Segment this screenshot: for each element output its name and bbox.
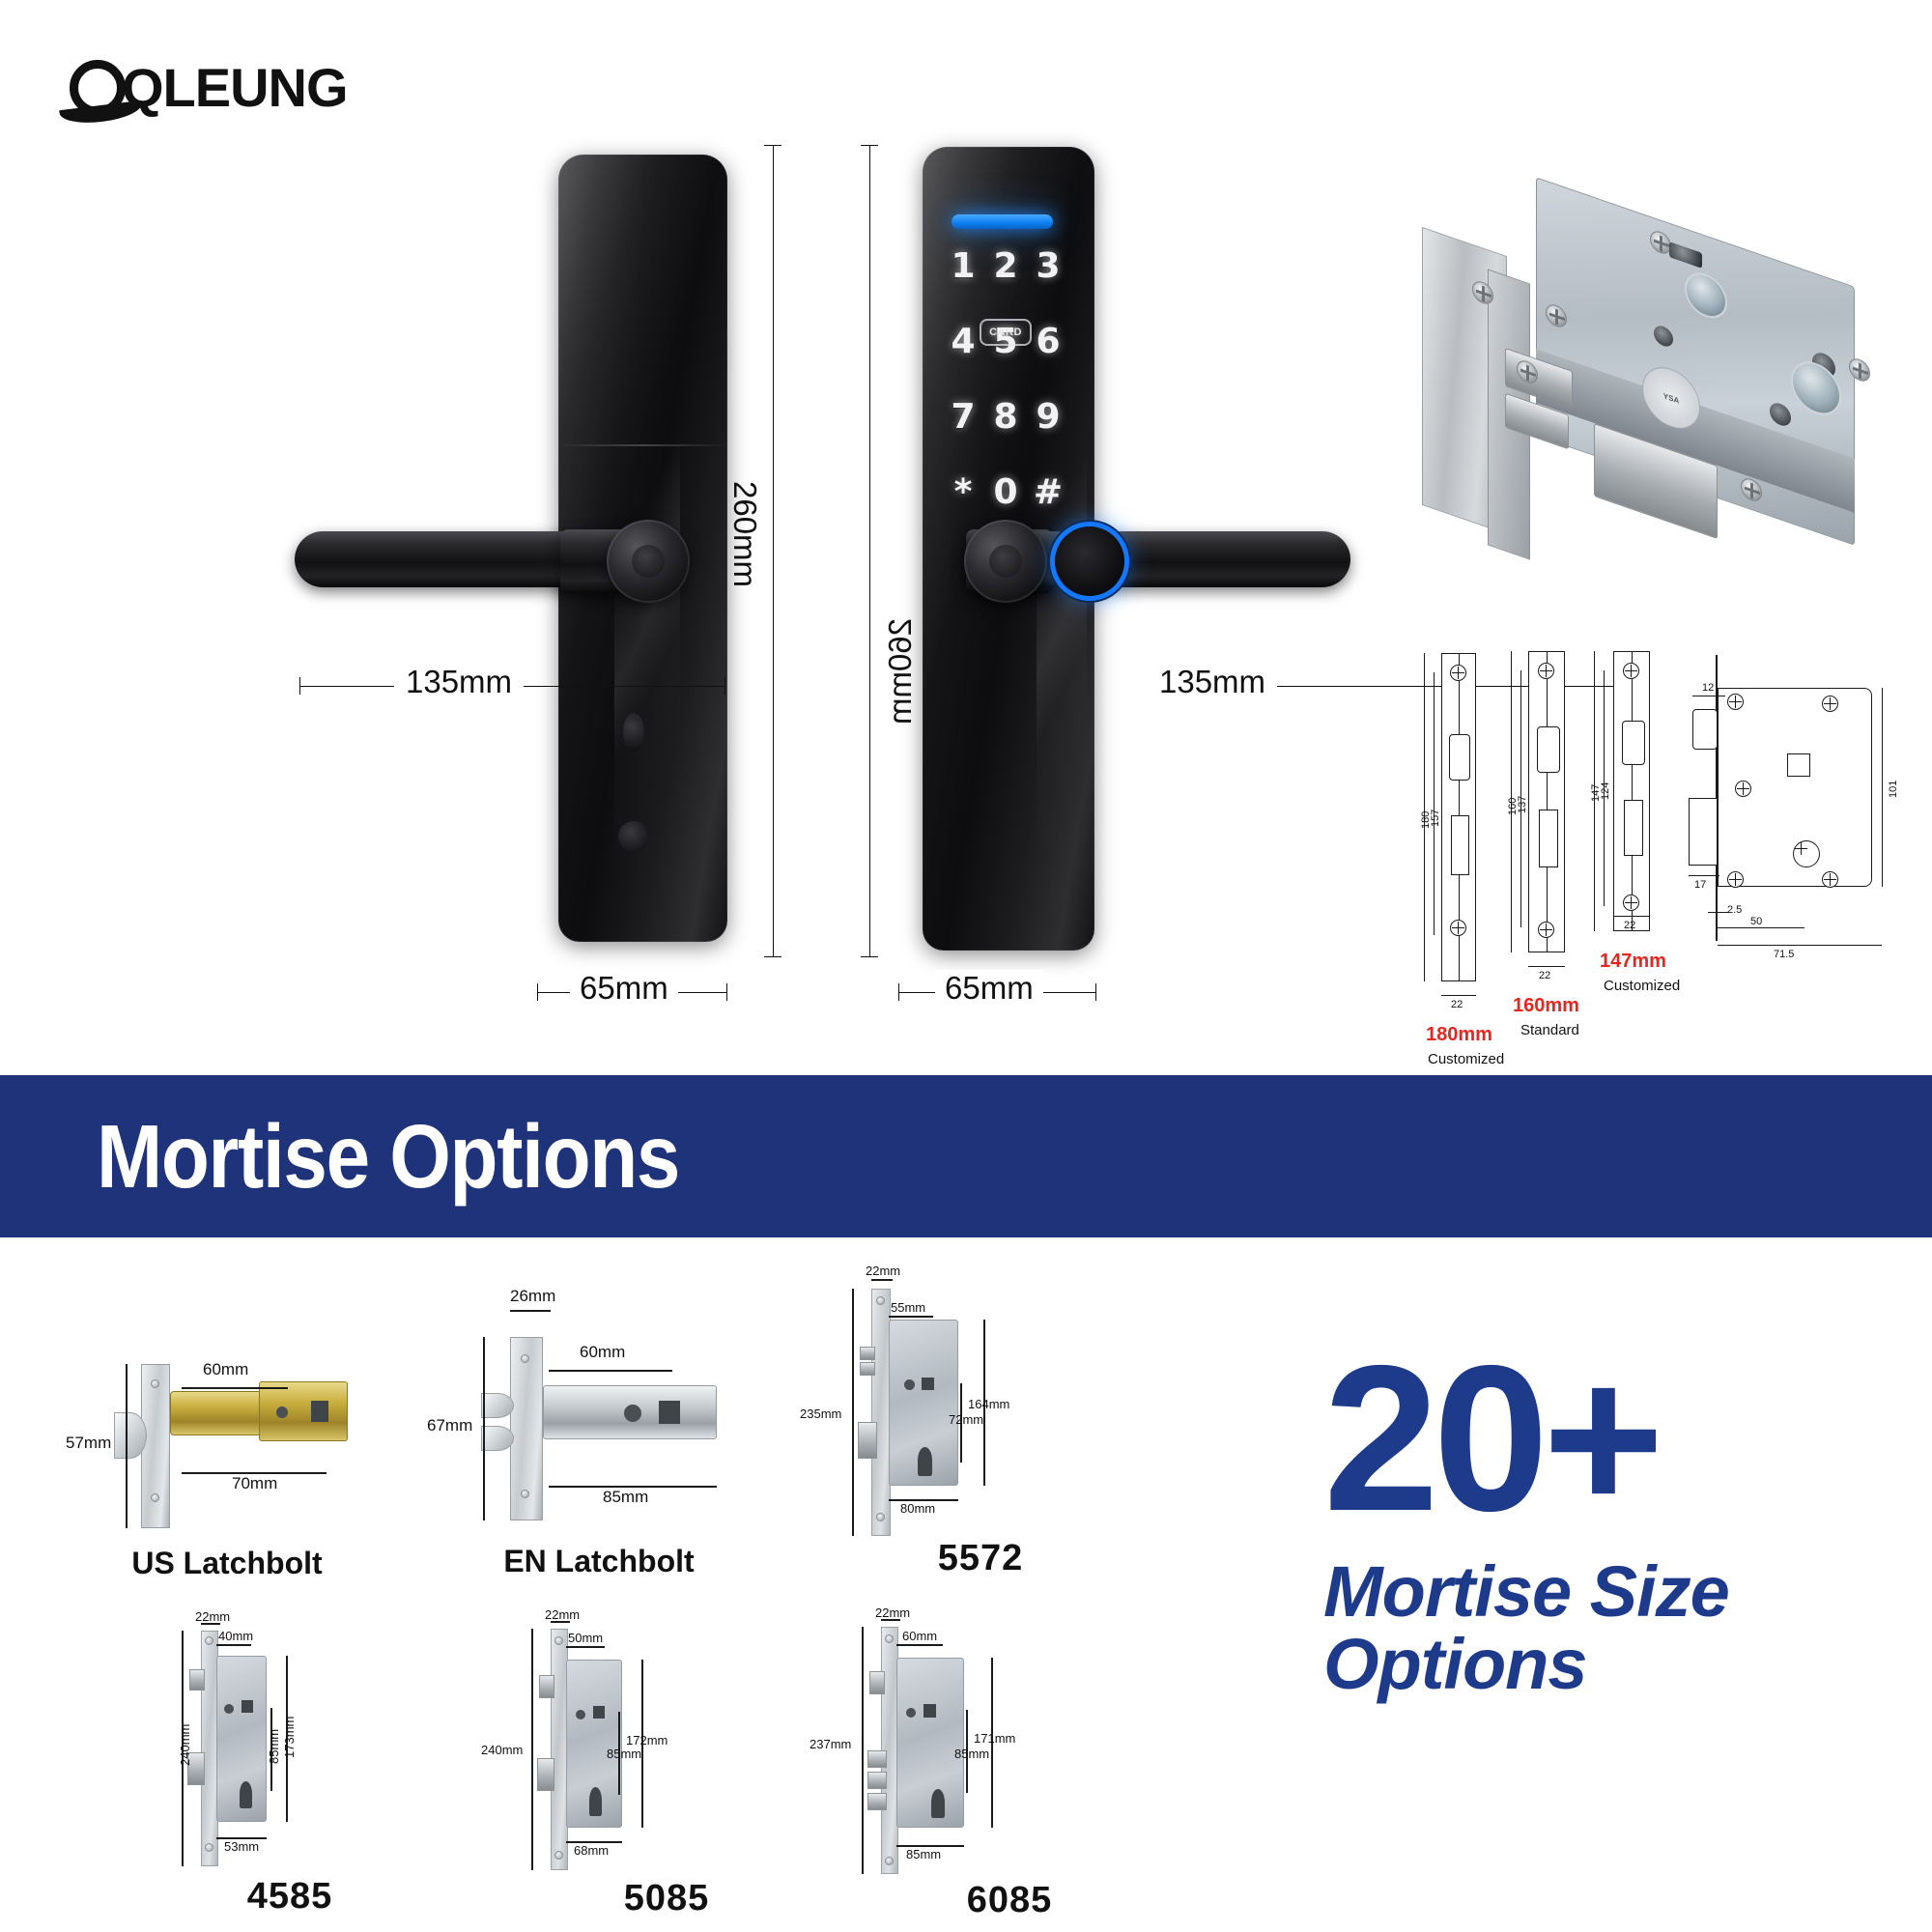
key-9[interactable]: 9 [1027,400,1069,435]
fingerprint-sensor[interactable] [1055,526,1124,596]
highlight-count: 20+ [1323,1343,1729,1534]
brand-name: QLEUNG [122,56,348,119]
mortise-label-en: EN Latchbolt [425,1544,773,1579]
banner-title: Mortise Options [97,1105,679,1208]
touch-keypad[interactable]: 1 2 3 4 5 6 7 8 9 * 0 # [942,249,1069,510]
mortise-lock-photo: YSA [1422,214,1924,553]
highlight-subtitle: Mortise Size Options [1323,1555,1729,1701]
card-reader-icon: CARD [980,319,1032,346]
mortise-label-5572: 5572 [821,1538,1140,1579]
mortise-card-us-latchbolt: 57mm 60mm 70mm US Latchbolt [58,1352,396,1633]
mortise-card-5572: 22mm 55mm 235mm 164mm 72mm 80mm 5572 [821,1275,1140,1633]
mortise-card-en-latchbolt: 26mm 67mm 60mm 85mm EN Latchbolt [425,1285,773,1633]
mortise-card-6085: 22mm 60mm 237mm 171mm 85mm 85mm 6085 [850,1623,1169,1932]
brand-logo: QLEUNG [70,56,348,119]
key-hash[interactable]: # [1027,475,1069,510]
highlight-line-2: Options [1323,1628,1729,1700]
rear-keyway [623,713,644,752]
mortise-card-4585: 22mm 40mm 240mm 173mm 85mm 53mm 4585 [135,1623,444,1932]
mortise-label-5085: 5085 [512,1878,821,1919]
section-banner: Mortise Options [0,1075,1932,1237]
status-led-bar [952,214,1053,229]
highlight-line-1: Mortise Size [1323,1555,1729,1628]
key-4[interactable]: 4 [942,325,984,359]
highlight-block: 20+ Mortise Size Options [1323,1343,1729,1701]
key-6[interactable]: 6 [1027,325,1069,359]
key-2[interactable]: 2 [984,249,1027,284]
key-7[interactable]: 7 [942,400,984,435]
key-1[interactable]: 1 [942,249,984,284]
key-star[interactable]: * [942,475,984,510]
mortise-technical-drawing: 180 157 22 180mm Customized 160 137 22 1… [1403,626,1924,1032]
logo-q-icon [70,60,126,116]
mortise-label-us: US Latchbolt [58,1546,396,1581]
mortise-card-5085: 22mm 50mm 240mm 172mm 85mm 68mm 5085 [512,1623,821,1932]
key-3[interactable]: 3 [1027,249,1069,284]
rear-thumbturn [618,821,649,852]
mortise-label-6085: 6085 [850,1880,1169,1921]
mortise-label-4585: 4585 [135,1876,444,1918]
product-spec-page: QLEUNG 1 2 3 4 5 6 7 8 [0,0,1932,1932]
key-8[interactable]: 8 [984,400,1027,435]
key-0[interactable]: 0 [984,475,1027,510]
